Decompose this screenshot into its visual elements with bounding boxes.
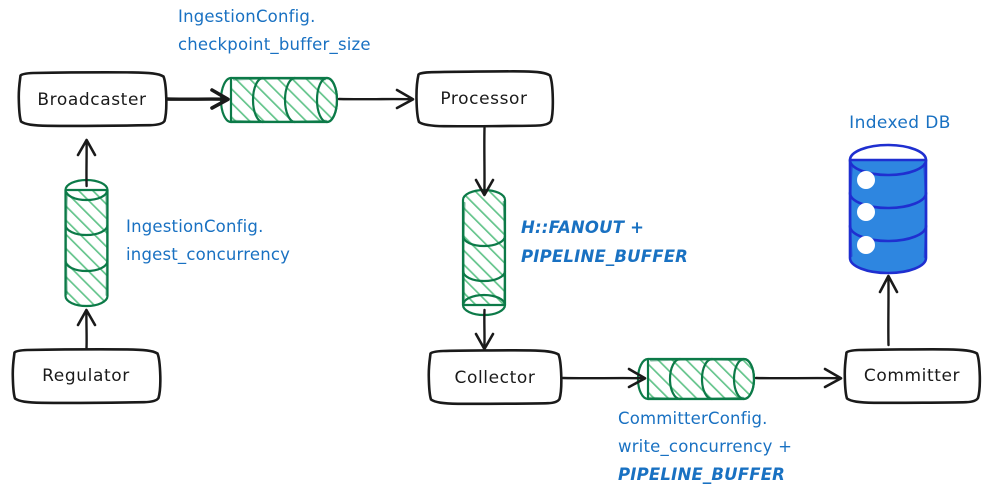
edge-write-buffer-to-committer <box>756 369 841 387</box>
node-indexed-db-label: Indexed DB <box>849 113 951 133</box>
edge-fanout-to-collector <box>476 310 493 349</box>
edge-collector-to-write-buffer <box>563 369 645 387</box>
node-committer[interactable]: Committer <box>845 349 980 403</box>
edge-ingest-buffer-to-broadcaster <box>78 140 95 186</box>
buffer-body <box>66 190 108 306</box>
buffer-write-concurrency <box>638 359 754 399</box>
edge-processor-to-fanout <box>476 128 493 195</box>
annotation-checkpoint-buffer-size: IngestionConfig. checkpoint_buffer_size <box>178 7 371 55</box>
annotation-ingest-concurrency: IngestionConfig. ingest_concurrency <box>126 217 290 265</box>
annotation-write-concurrency: CommitterConfig. write_concurrency + PIP… <box>618 409 792 484</box>
node-processor-label: Processor <box>440 89 527 109</box>
db-indicator-dot <box>858 204 875 221</box>
buffer-sketch-line <box>234 79 325 80</box>
annotation-fanout-pipeline-buffer: H::FANOUT + PIPELINE_BUFFER <box>521 218 688 266</box>
pipeline-diagram: Broadcaster Processor Regulator Collecto… <box>0 0 987 492</box>
buffer-sketch-line <box>66 193 67 294</box>
node-regulator[interactable]: Regulator <box>13 349 161 403</box>
node-broadcaster-label: Broadcaster <box>37 90 146 110</box>
buffer-sketch-line <box>233 121 326 122</box>
buffer-ingest-concurrency <box>66 180 108 306</box>
db-indicator-dot <box>858 237 875 254</box>
node-processor[interactable]: Processor <box>416 71 552 126</box>
node-collector[interactable]: Collector <box>429 350 562 404</box>
edge-broadcaster-to-checkpoint <box>167 90 228 108</box>
db-indicator-dot <box>858 172 875 189</box>
annotation-line-1: IngestionConfig. <box>126 217 264 236</box>
annotation-line-2: write_concurrency + <box>618 437 792 457</box>
annotation-line-1: H::FANOUT + <box>521 218 644 237</box>
buffer-sketch-line <box>651 360 742 361</box>
edge-regulator-to-ingest-buffer <box>78 310 95 348</box>
node-regulator-label: Regulator <box>42 366 130 386</box>
edge-committer-to-indexed-db <box>880 276 897 345</box>
buffer-sketch-line <box>464 203 465 303</box>
annotation-line-2: ingest_concurrency <box>126 245 290 265</box>
node-collector-label: Collector <box>455 368 536 388</box>
node-broadcaster[interactable]: Broadcaster <box>19 72 167 126</box>
annotation-line-2: checkpoint_buffer_size <box>178 35 371 55</box>
annotation-line-1: IngestionConfig. <box>178 7 316 26</box>
buffer-fanout <box>463 190 505 315</box>
annotation-line-3: PIPELINE_BUFFER <box>618 465 785 484</box>
node-indexed-db[interactable]: Indexed DB <box>849 113 951 273</box>
buffer-sketch-line <box>650 398 743 399</box>
buffer-sketch-line <box>504 202 505 304</box>
buffer-checkpoint <box>221 78 337 122</box>
node-committer-label: Committer <box>864 366 960 386</box>
diagram-canvas: Broadcaster Processor Regulator Collecto… <box>0 0 987 492</box>
annotation-line-2: PIPELINE_BUFFER <box>521 247 688 266</box>
buffer-sketch-line <box>106 192 107 295</box>
edge-checkpoint-to-processor <box>339 90 413 108</box>
buffer-body <box>463 190 505 305</box>
annotation-line-1: CommitterConfig. <box>618 409 768 428</box>
